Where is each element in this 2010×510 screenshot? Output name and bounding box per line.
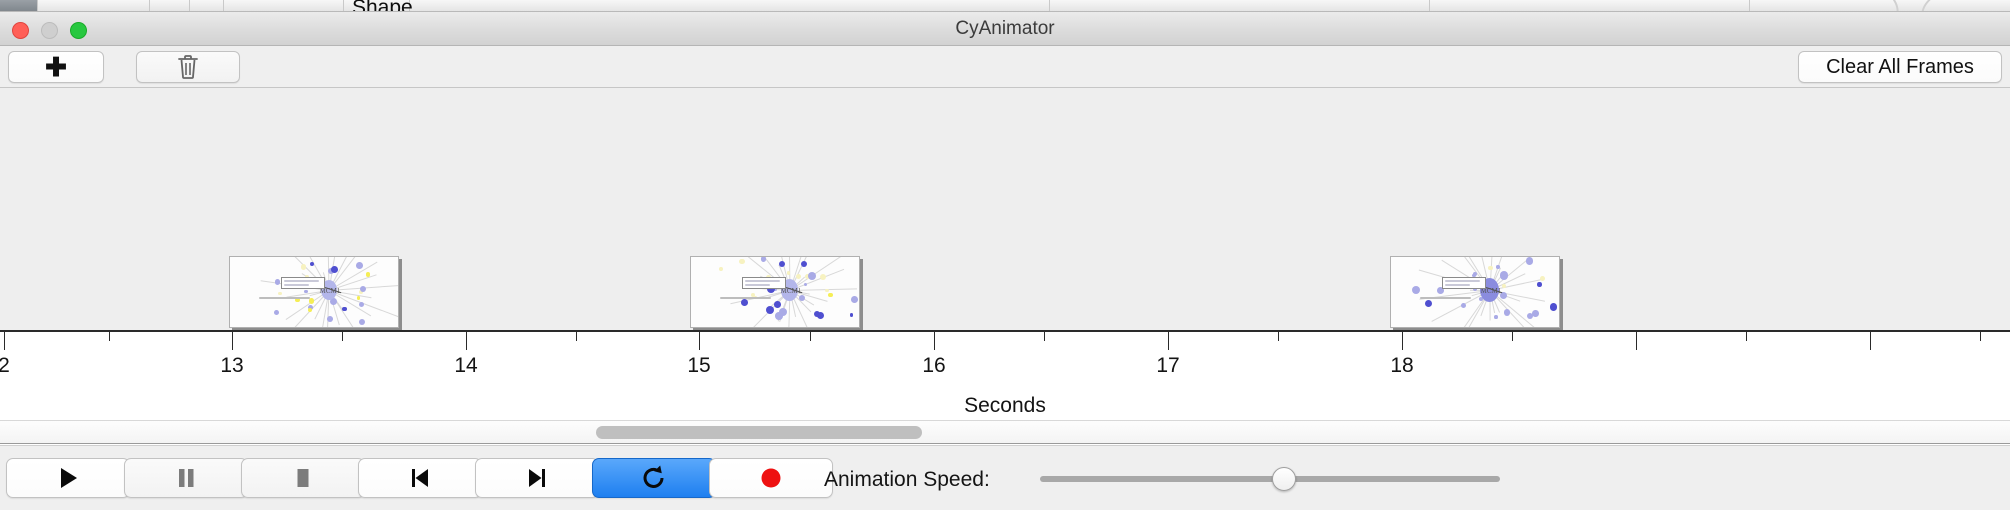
ruler-tick-major [1402,332,1403,350]
ruler-baseline [0,330,2010,332]
network-node [1425,300,1432,307]
animation-speed-label: Animation Speed: [824,468,990,492]
network-node [366,272,371,277]
network-node [719,267,723,271]
network-node [1532,310,1539,317]
ruler-tick-label: 16 [922,354,945,378]
animation-speed-slider[interactable] [1040,476,1500,482]
title-bar: CyAnimator [0,12,2010,46]
play-icon [57,465,79,491]
trash-icon [177,54,199,80]
network-node [1502,284,1506,288]
network-node [274,310,279,315]
network-node [1526,257,1534,265]
axis-title: Seconds [0,394,2010,418]
network-node [739,259,745,265]
network-node [278,292,282,296]
network-annotation-text [745,284,771,286]
network-caption-text [720,297,771,299]
record-icon [758,465,784,491]
network-thumbnail-canvas: MCM1 [691,257,859,327]
network-node [814,311,820,317]
ruler-tick-minor [1512,332,1513,341]
ruler-tick-major [1870,332,1871,350]
ruler-tick-major [466,332,467,350]
next-frame-button[interactable] [475,458,599,498]
ruler-tick-major [934,332,935,350]
previous-frame-button[interactable] [358,458,482,498]
frame-thumbnail[interactable]: MCM1 [1390,256,1560,328]
timeline-panel[interactable]: MCM1 MCM1 MCM1 [0,88,2010,330]
loop-icon [641,464,667,492]
network-node [804,283,807,286]
plus-icon: ✚ [45,54,67,80]
ruler-tick-major [1636,332,1637,350]
ruler-tick-label: 17 [1156,354,1179,378]
network-node [1540,276,1545,281]
network-node [828,293,833,298]
network-node [820,274,826,280]
network-node [342,307,346,311]
network-node [825,289,829,293]
network-node [301,264,306,269]
network-node [851,296,858,303]
stop-icon [292,465,314,491]
timeline-scrollbar[interactable] [0,420,2010,444]
frame-thumbnail[interactable]: MCM1 [690,256,860,328]
ruler-tick-minor [1044,332,1045,341]
window-title: CyAnimator [0,12,2010,46]
time-ruler: 2131415161718 [0,330,2010,342]
ruler-tick-minor [576,332,577,341]
clear-all-frames-button[interactable]: Clear All Frames [1798,51,2002,83]
ruler-tick-label: 15 [687,354,710,378]
ruler-tick-minor [810,332,811,341]
network-node [1500,271,1508,279]
ruler-tick-minor [1980,332,1981,341]
network-node [1473,272,1478,277]
network-node [327,316,333,322]
network-node [1412,286,1420,294]
network-node [360,286,366,292]
network-thumbnail-canvas: MCM1 [1391,257,1559,327]
network-node [1496,265,1499,268]
background-window-label: Shape [352,0,413,12]
ruler-tick-label: 18 [1390,354,1413,378]
network-annotation-text [1445,284,1471,286]
network-node [779,308,787,316]
ruler-tick-label: 14 [454,354,477,378]
network-node [309,298,314,303]
cyanimator-window: Shape CyAnimator ✚ Clear All [0,0,2010,510]
network-node [359,302,364,307]
ruler-tick-major [1168,332,1169,350]
play-button[interactable] [6,458,130,498]
network-node [1488,266,1492,270]
network-node [850,313,854,317]
network-annotation-text [284,284,310,286]
network-node [761,256,766,261]
network-node [774,301,781,308]
add-frame-button[interactable]: ✚ [8,51,104,83]
network-node [1461,303,1466,308]
background-desktop-strip: Shape [0,0,2010,12]
network-annotation-text [745,280,781,282]
network-annotation-text [1445,280,1481,282]
pause-icon [175,465,197,491]
network-node [1550,303,1557,310]
network-node [1504,309,1511,316]
network-node [1494,315,1498,319]
ruler-tick-major [232,332,233,350]
frame-thumbnail[interactable]: MCM1 [229,256,399,328]
delete-frame-button[interactable] [136,51,240,83]
ruler-tick-minor [1278,332,1279,341]
ruler-tick-major [4,332,5,350]
ruler-tick-minor [342,332,343,341]
network-caption-text [259,297,310,299]
network-node [787,271,790,274]
ruler-tick-minor [109,332,110,341]
ruler-tick-label: 2 [0,354,10,378]
network-caption-text [1420,297,1471,299]
skip-forward-icon [525,465,549,491]
loop-button[interactable] [592,458,716,498]
network-node [356,262,363,269]
ruler-tick-label: 13 [220,354,243,378]
network-node [766,306,774,314]
ruler-tick-minor [1746,332,1747,341]
pause-button[interactable] [124,458,248,498]
network-node [331,266,338,273]
animation-speed-slider-knob[interactable] [1272,467,1296,491]
stop-button[interactable] [241,458,365,498]
network-node [359,319,366,326]
network-node [1537,282,1541,286]
network-node [801,261,807,267]
network-node [357,296,361,300]
playback-control-bar: Animation Speed: [0,445,2010,510]
network-node [796,274,801,279]
network-annotation-text [284,280,320,282]
record-button[interactable] [709,458,833,498]
network-thumbnail-canvas: MCM1 [230,257,398,327]
network-node [308,308,312,312]
ruler-tick-major [699,332,700,350]
skip-back-icon [408,465,432,491]
network-node [741,299,748,306]
toolbar: ✚ Clear All Frames [0,46,2010,88]
scrollbar-thumb[interactable] [596,426,922,439]
